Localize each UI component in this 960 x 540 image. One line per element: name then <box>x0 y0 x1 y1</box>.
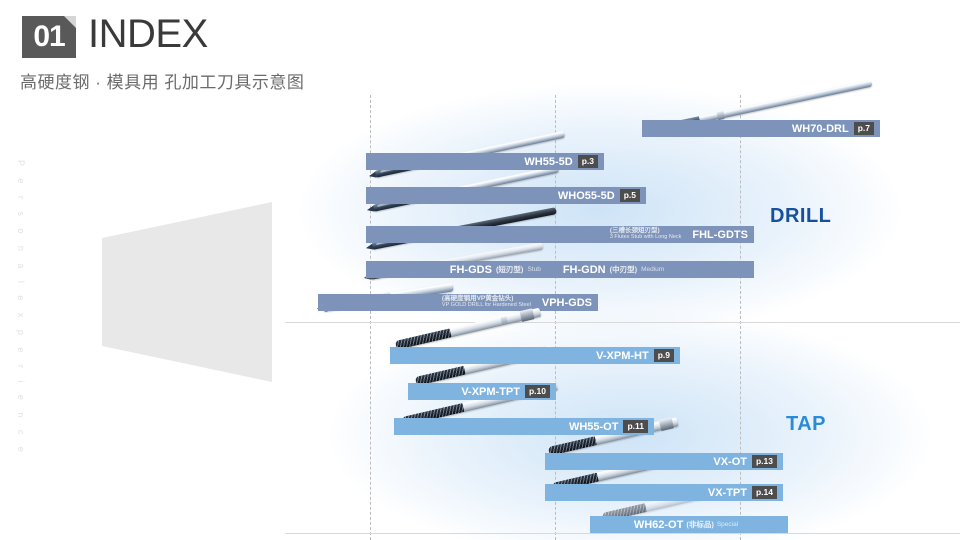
label-bar-vph-gds[interactable]: (高硬度钢用VP黄金钻头) VP GOLD DRILL for Hardened… <box>318 294 598 311</box>
note-en-fhl-gdts: 3 Flutes Stub with Long Neck <box>610 235 682 241</box>
tool-name-vx-tpt: VX-TPT <box>708 487 747 499</box>
tool-name-wh62-ot: WH62-OT <box>634 519 684 531</box>
label-bar-wh55-ot[interactable]: WH55-OT p.11 <box>394 418 654 435</box>
slide-page: 01 INDEX 高硬度钢 · 模具用 孔加工刀具示意图 P e r s o n… <box>0 0 960 540</box>
tool-name-fh-gdn: FH-GDN <box>563 264 606 276</box>
label-bar-v-xpm-tpt[interactable]: V-XPM-TPT p.10 <box>408 383 556 400</box>
label-bar-vx-ot[interactable]: VX-OT p.13 <box>545 453 783 470</box>
page-badge-who55-5d[interactable]: p.5 <box>620 189 640 202</box>
page-badge-wh55-ot[interactable]: p.11 <box>623 420 648 433</box>
tool-name-wh55-5d: WH55-5D <box>524 156 572 168</box>
note-vph-gds: (高硬度钢用VP黄金钻头) VP GOLD DRILL for Hardened… <box>442 296 531 309</box>
page-subtitle: 高硬度钢 · 模具用 孔加工刀具示意图 <box>20 68 304 93</box>
section-heading-drill: DRILL <box>770 205 831 228</box>
label-bar-fhl-gdts[interactable]: (三槽长颈短刃型) 3 Flutes Stub with Long Neck F… <box>366 226 754 243</box>
page-badge-v-xpm-ht[interactable]: p.9 <box>654 349 674 362</box>
label-bar-vx-tpt[interactable]: VX-TPT p.14 <box>545 484 783 501</box>
tool-name-who55-5d: WHO55-5D <box>558 190 615 202</box>
section-divider <box>285 322 960 323</box>
tool-diagram: WH70-DRL p.7 WH55-5D p.3 WHO55-5D p.5 (三… <box>0 95 960 540</box>
tool-name-wh55-ot: WH55-OT <box>569 421 619 433</box>
page-badge-vx-ot[interactable]: p.13 <box>752 455 777 468</box>
tool-name-v-xpm-ht: V-XPM-HT <box>596 350 649 362</box>
note-fhl-gdts: (三槽长颈短刃型) 3 Flutes Stub with Long Neck <box>610 228 682 241</box>
type-en-fh-gds: Stub <box>527 266 540 273</box>
guide-line-3 <box>740 95 741 540</box>
note-en-vph-gds: VP GOLD DRILL for Hardened Steel <box>442 303 531 309</box>
tool-name-v-xpm-tpt: V-XPM-TPT <box>461 386 520 398</box>
tool-name-vph-gds: VPH-GDS <box>542 297 592 309</box>
page-title: INDEX <box>88 12 208 57</box>
page-badge-wh55-5d[interactable]: p.3 <box>578 155 598 168</box>
page-badge-v-xpm-tpt[interactable]: p.10 <box>525 385 550 398</box>
label-bar-who55-5d[interactable]: WHO55-5D p.5 <box>366 187 646 204</box>
type-cn-fh-gdn: (中刃型) <box>610 264 638 275</box>
type-cn-fh-gds: (短刃型) <box>496 264 524 275</box>
type-cn-wh62-ot: (非标品) <box>686 519 714 530</box>
label-bar-fh-gds[interactable]: FH-GDS (短刃型) Stub FH-GDN (中刃型) Medium <box>366 261 754 278</box>
tool-name-wh70-drl: WH70-DRL <box>792 123 849 135</box>
label-bar-v-xpm-ht[interactable]: V-XPM-HT p.9 <box>390 347 680 364</box>
label-bar-wh62-ot[interactable]: WH62-OT (非标品) Special <box>590 516 788 533</box>
type-en-wh62-ot: Special <box>717 521 738 528</box>
tool-name-vx-ot: VX-OT <box>713 456 747 468</box>
page-badge-wh70-drl[interactable]: p.7 <box>854 122 874 135</box>
type-en-fh-gdn: Medium <box>641 266 664 273</box>
page-badge-vx-tpt[interactable]: p.14 <box>752 486 777 499</box>
tool-name-fhl-gdts: FHL-GDTS <box>692 229 748 241</box>
section-heading-tap: TAP <box>786 413 826 436</box>
label-bar-wh55-5d[interactable]: WH55-5D p.3 <box>366 153 604 170</box>
bottom-divider <box>285 533 960 534</box>
tool-name-fh-gds: FH-GDS <box>450 264 492 276</box>
label-bar-wh70-drl[interactable]: WH70-DRL p.7 <box>642 120 880 137</box>
section-number-badge: 01 <box>22 16 76 58</box>
